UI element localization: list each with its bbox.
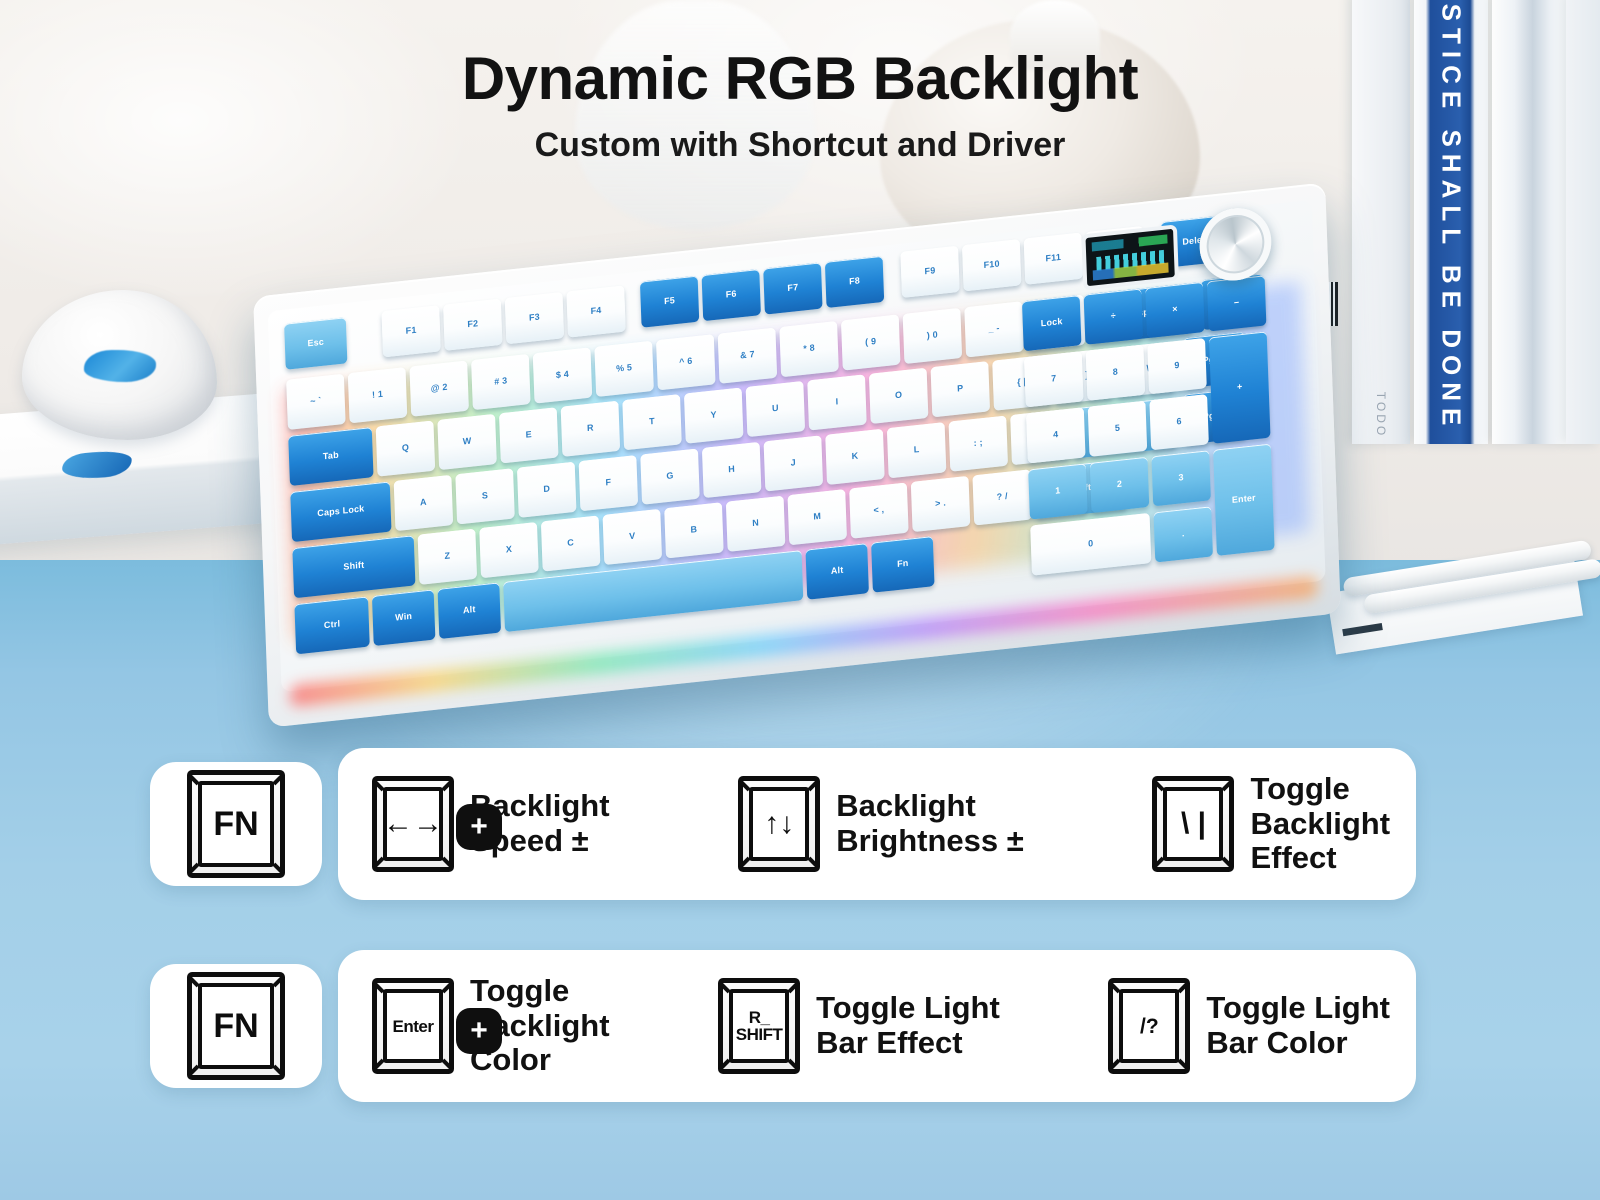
- keycap-letter[interactable]: C: [541, 515, 601, 571]
- keycap-number[interactable]: ) 0: [903, 308, 963, 364]
- keycap-numpad[interactable]: 9: [1147, 338, 1207, 394]
- keycap-numpad[interactable]: 4: [1026, 407, 1086, 463]
- keycap-capslock[interactable]: Caps Lock: [290, 481, 391, 542]
- keycap-alt[interactable]: Alt: [438, 582, 501, 639]
- keycap-letter[interactable]: S: [455, 468, 515, 524]
- keycap-numpad[interactable]: ÷: [1084, 288, 1144, 344]
- keycap-legend: /?: [1140, 1016, 1159, 1037]
- keycap-number[interactable]: ^ 6: [656, 334, 716, 390]
- keycap-legend: ↑↓: [764, 809, 794, 839]
- keycap-letter[interactable]: < ,: [849, 482, 909, 538]
- keycap-letter[interactable]: Q: [376, 420, 436, 476]
- book-spine-subtext: TODO: [1374, 392, 1388, 438]
- page-title: Dynamic RGB Backlight: [0, 44, 1600, 113]
- keycap-numpad-enter[interactable]: Enter: [1213, 444, 1275, 556]
- keycap-letter[interactable]: A: [394, 475, 454, 531]
- keycap-letter[interactable]: E: [499, 407, 559, 463]
- keycap-face: FN: [198, 983, 274, 1069]
- keycap-number[interactable]: ! 1: [348, 367, 408, 423]
- keycap-letter[interactable]: : ;: [949, 416, 1009, 472]
- keycap-face: R_ SHIFT: [729, 989, 789, 1063]
- shortcut-item: ↑↓Backlight Brightness ±: [738, 776, 1024, 872]
- keycap-ctrl[interactable]: Ctrl: [294, 596, 369, 654]
- keycap-letter[interactable]: G: [640, 448, 700, 504]
- keycap-number[interactable]: & 7: [718, 328, 778, 384]
- shortcut-label: Toggle Light Bar Effect: [816, 991, 1000, 1060]
- keycap-letter[interactable]: V: [603, 509, 663, 565]
- keycap-numpad[interactable]: 6: [1149, 394, 1209, 450]
- keycap-letter[interactable]: F: [579, 455, 639, 511]
- fn-modifier-card: FN: [150, 964, 322, 1088]
- keycap-fn[interactable]: FN: [187, 770, 285, 878]
- keycap-numpad[interactable]: 3: [1151, 450, 1211, 506]
- keycap-esc[interactable]: Esc: [284, 317, 347, 370]
- shortcut-label: Toggle Backlight Effect: [1250, 772, 1390, 876]
- keycap-letter[interactable]: B: [664, 502, 724, 558]
- keycap-letter[interactable]: D: [517, 462, 577, 518]
- keycap-letter[interactable]: O: [869, 368, 929, 424]
- fn-modifier-card: FN: [150, 762, 322, 886]
- keycap-letter[interactable]: > .: [911, 476, 971, 532]
- keycap-lshift[interactable]: Shift: [292, 535, 415, 598]
- keycap-fnrow[interactable]: F11: [1024, 233, 1083, 285]
- keycap-win[interactable]: Win: [372, 589, 435, 646]
- keycap-tab[interactable]: Tab: [288, 427, 373, 486]
- keycap-shortcut[interactable]: Enter: [372, 978, 454, 1074]
- keycap-number[interactable]: _ -: [964, 301, 1024, 357]
- keycap-numpad-plus[interactable]: +: [1209, 331, 1271, 443]
- keycap-ralt[interactable]: Alt: [805, 543, 868, 600]
- keycap-letter[interactable]: T: [622, 394, 682, 450]
- keycap-fnrow[interactable]: F6: [702, 269, 761, 321]
- keycap-number[interactable]: ( 9: [841, 314, 901, 370]
- keyboard-lcd-screen: [1081, 224, 1179, 290]
- keycap-legend: ←→: [383, 809, 443, 839]
- keycap-letter[interactable]: L: [887, 422, 947, 478]
- shortcut-row-2: FN+EnterToggle Backlight ColorR_ SHIFTTo…: [150, 950, 1416, 1102]
- keycap-numpad-dot[interactable]: .: [1153, 506, 1213, 562]
- keycap-fnrow[interactable]: F7: [763, 262, 822, 314]
- keycap-letter[interactable]: R: [561, 401, 621, 457]
- shortcut-item: /?Toggle Light Bar Color: [1108, 978, 1390, 1074]
- keycap-numpad[interactable]: 2: [1090, 457, 1150, 513]
- keycap-numpad[interactable]: Lock: [1022, 295, 1082, 351]
- product-marketing-page: TODO STICE SHALL BE DONE EscF1F2F3F4F5F6…: [0, 0, 1600, 1200]
- keycap-face: \ |: [1163, 787, 1223, 861]
- shortcut-item: \ |Toggle Backlight Effect: [1152, 772, 1390, 876]
- keycap-face: /?: [1119, 989, 1179, 1063]
- keycap-letter[interactable]: P: [931, 361, 991, 417]
- keycap-shortcut[interactable]: \ |: [1152, 776, 1234, 872]
- keycap-fn[interactable]: FN: [187, 972, 285, 1080]
- keycap-shortcut[interactable]: R_ SHIFT: [718, 978, 800, 1074]
- keycap-fnrow[interactable]: F1: [381, 305, 440, 357]
- keycap-letter[interactable]: U: [746, 381, 806, 437]
- keycap-letter[interactable]: ? /: [972, 469, 1032, 525]
- plus-badge: +: [456, 1008, 502, 1054]
- keycap-letter[interactable]: J: [764, 435, 824, 491]
- keycap-numpad[interactable]: 8: [1086, 345, 1146, 401]
- keycap-letter[interactable]: H: [702, 442, 762, 498]
- keycap-shortcut[interactable]: ↑↓: [738, 776, 820, 872]
- keycap-numpad[interactable]: 1: [1028, 463, 1088, 519]
- keycap-fnrow[interactable]: F4: [566, 285, 625, 337]
- keycap-letter[interactable]: Z: [418, 529, 478, 585]
- keycap-shortcut[interactable]: ←→: [372, 776, 454, 872]
- keycap-legend: FN: [213, 807, 258, 841]
- keycap-letter[interactable]: M: [787, 489, 847, 545]
- keycap-fnrow[interactable]: F5: [640, 276, 699, 328]
- keycap-fnrow[interactable]: F2: [443, 299, 502, 351]
- keycap-letter[interactable]: I: [807, 374, 867, 430]
- keycap-fnrow[interactable]: F3: [505, 292, 564, 344]
- keycap-number[interactable]: ~ `: [286, 374, 346, 430]
- keycap-face: Enter: [383, 989, 443, 1063]
- keycap-numpad[interactable]: −: [1207, 275, 1267, 331]
- glass-vase-decor: [575, 0, 815, 230]
- keycap-legend: FN: [213, 1009, 258, 1043]
- keycap-fnrow[interactable]: F8: [825, 256, 884, 308]
- shortcut-item: R_ SHIFTToggle Light Bar Effect: [718, 978, 1000, 1074]
- keycap-fn[interactable]: Fn: [871, 536, 934, 593]
- keycap-legend: R_ SHIFT: [736, 1009, 783, 1043]
- keycap-face: ←→: [383, 787, 443, 861]
- keycap-number[interactable]: @ 2: [409, 361, 469, 417]
- keycap-number[interactable]: % 5: [594, 341, 654, 397]
- keycap-fnrow[interactable]: F10: [962, 239, 1021, 291]
- keycap-number[interactable]: $ 4: [533, 347, 593, 403]
- keycap-shortcut[interactable]: /?: [1108, 978, 1190, 1074]
- keycap-fnrow[interactable]: F9: [900, 246, 959, 298]
- keycap-face: ↑↓: [749, 787, 809, 861]
- plus-badge: +: [456, 804, 502, 850]
- keycap-legend: Enter: [393, 1018, 434, 1035]
- keycap-numpad[interactable]: 5: [1088, 401, 1148, 457]
- keycap-legend: \ |: [1181, 809, 1206, 839]
- page-subtitle: Custom with Shortcut and Driver: [0, 126, 1600, 165]
- keycap-letter[interactable]: W: [437, 414, 497, 470]
- keycap-letter[interactable]: N: [726, 496, 786, 552]
- shortcut-row-1: FN+←→Backlight Speed ±↑↓Backlight Bright…: [150, 748, 1416, 900]
- keycap-numpad-zero[interactable]: 0: [1030, 513, 1151, 576]
- keycap-number[interactable]: # 3: [471, 354, 531, 410]
- keycap-letter[interactable]: Y: [684, 388, 744, 444]
- keycap-number[interactable]: * 8: [779, 321, 839, 377]
- keycap-numpad[interactable]: ×: [1145, 282, 1205, 338]
- keycap-letter[interactable]: X: [479, 522, 539, 578]
- shortcut-label: Backlight Brightness ±: [836, 789, 1024, 858]
- keycap-face: FN: [198, 781, 274, 867]
- shortcut-label: Toggle Light Bar Color: [1206, 991, 1390, 1060]
- keycap-numpad[interactable]: 7: [1024, 351, 1084, 407]
- keycap-letter[interactable]: K: [825, 429, 885, 485]
